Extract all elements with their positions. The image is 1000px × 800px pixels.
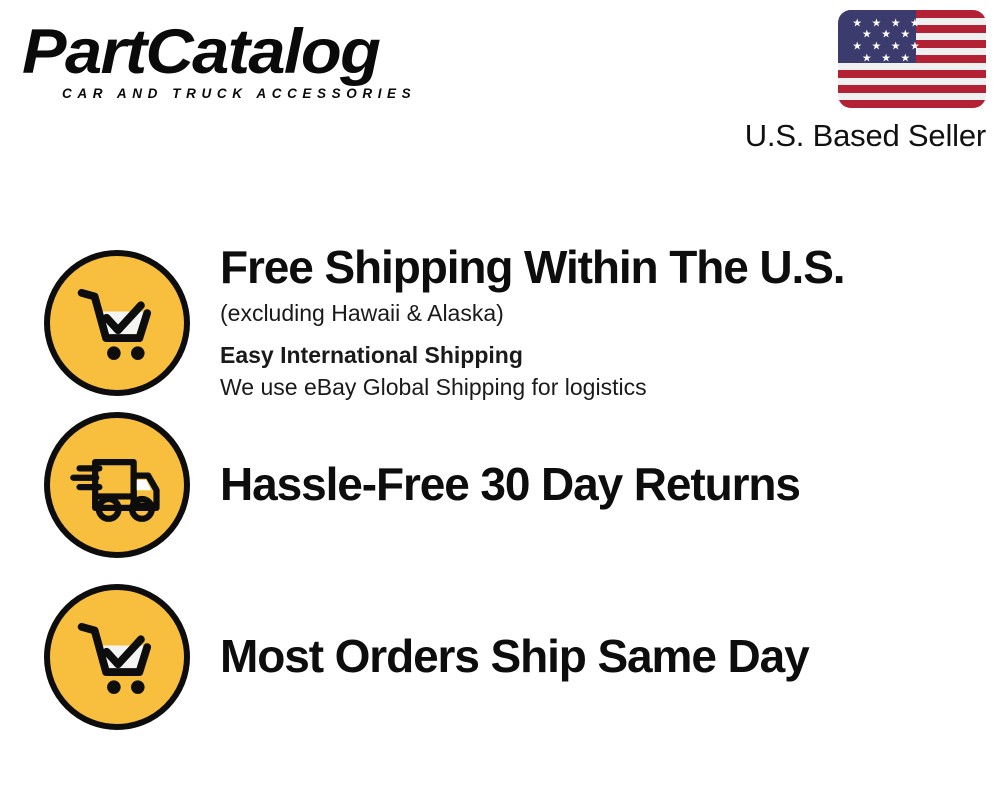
shopping-cart-check-icon	[44, 250, 190, 396]
feature-subtitle-detail: We use eBay Global Shipping for logistic…	[220, 372, 980, 403]
shopping-cart-check-glyph	[65, 271, 169, 375]
shopping-cart-check-icon	[44, 584, 190, 730]
delivery-truck-glyph	[65, 433, 169, 537]
shopping-cart-check-glyph	[65, 605, 169, 709]
brand-logo: PartCatalog CAR AND TRUCK ACCESSORIES	[22, 22, 492, 101]
brand-wordmark: PartCatalog	[22, 22, 520, 83]
feature-row: Hassle-Free 30 Day Returns	[0, 412, 1000, 557]
feature-title: Most Orders Ship Same Day	[220, 632, 980, 681]
feature-row: Free Shipping Within The U.S. (excluding…	[0, 240, 1000, 405]
us-based-seller-badge: ★ ★ ★ ★ ★ ★ ★ ★ ★ ★ ★ ★ ★ ★ U.S. Based S…	[686, 10, 986, 153]
feature-subtitle: (excluding Hawaii & Alaska)	[220, 298, 980, 329]
feature-text: Free Shipping Within The U.S. (excluding…	[220, 243, 1000, 402]
feature-row: Most Orders Ship Same Day	[0, 584, 1000, 729]
feature-title: Free Shipping Within The U.S.	[220, 243, 980, 292]
feature-text: Hassle-Free 30 Day Returns	[220, 460, 1000, 509]
feature-subtitle-bold: Easy International Shipping	[220, 340, 980, 371]
us-based-seller-label: U.S. Based Seller	[686, 119, 986, 153]
feature-title: Hassle-Free 30 Day Returns	[220, 460, 980, 509]
feature-text: Most Orders Ship Same Day	[220, 632, 1000, 681]
delivery-truck-icon	[44, 412, 190, 558]
page-header: PartCatalog CAR AND TRUCK ACCESSORIES ★ …	[0, 0, 1000, 175]
us-flag-icon: ★ ★ ★ ★ ★ ★ ★ ★ ★ ★ ★ ★ ★ ★	[838, 10, 986, 108]
brand-tagline: CAR AND TRUCK ACCESSORIES	[62, 86, 492, 101]
